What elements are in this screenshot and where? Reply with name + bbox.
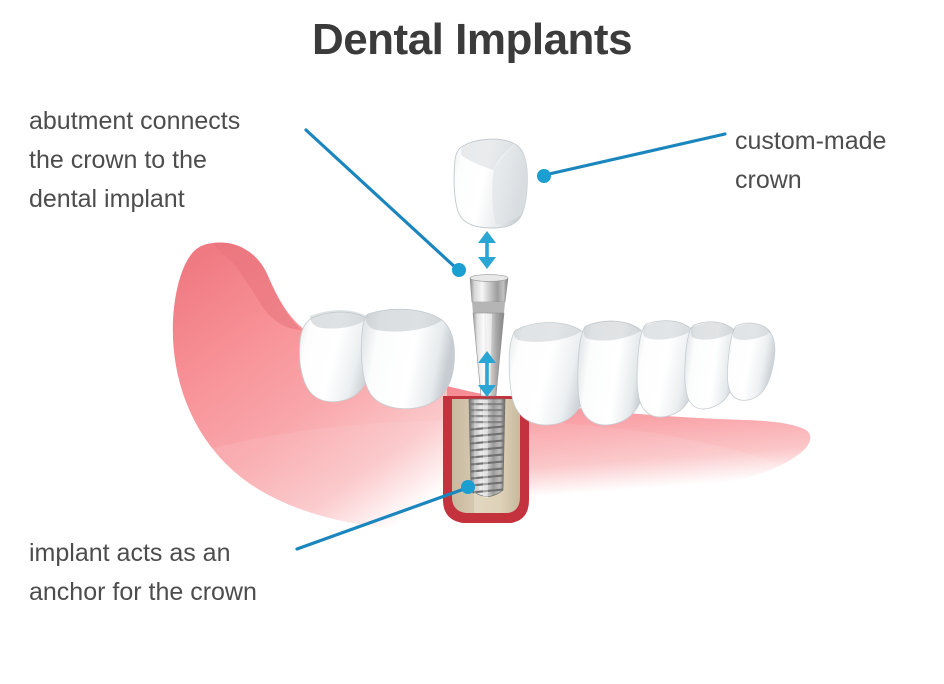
crown	[454, 139, 527, 228]
leader-dot-crown	[537, 169, 551, 183]
teeth-left-group	[300, 309, 455, 409]
teeth-right-group	[509, 321, 775, 425]
leader-line-crown	[549, 134, 725, 174]
leader-dot-abutment	[452, 263, 466, 277]
annotation-crown: custom-made crown	[735, 122, 944, 200]
abutment-top-face	[470, 275, 508, 282]
abutment-band	[472, 302, 505, 313]
leader-dot-implant	[461, 480, 475, 494]
abutment	[470, 275, 508, 396]
top-clip	[0, 0, 944, 6]
annotation-implant: implant acts as an anchor for the crown	[29, 534, 369, 612]
assembly-arrow-crown-to-abutment	[478, 231, 496, 269]
diagram-canvas: Dental Implants	[0, 0, 944, 684]
annotation-abutment: abutment connects the crown to the denta…	[29, 102, 329, 219]
